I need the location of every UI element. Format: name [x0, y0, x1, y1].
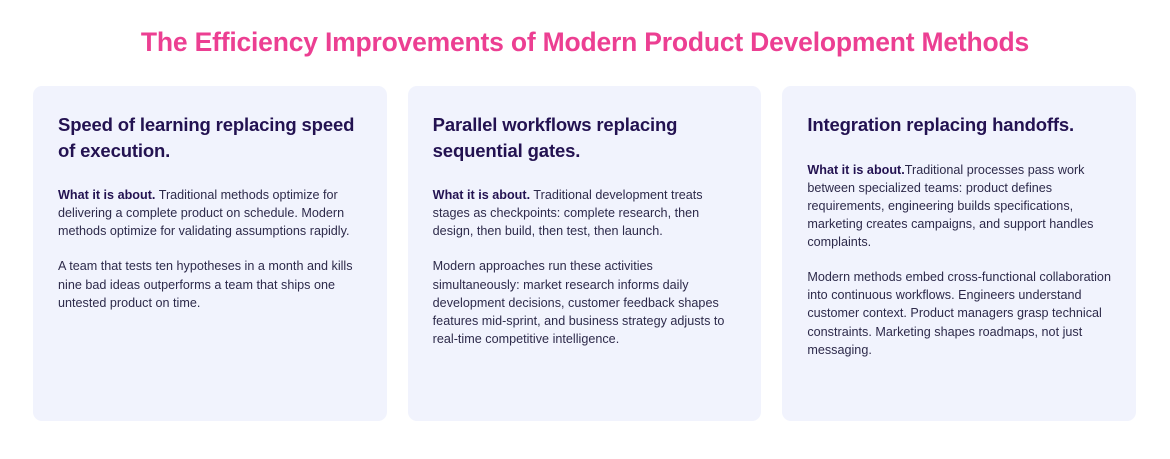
card-paragraph-1: What it is about.Traditional processes p… [807, 161, 1111, 252]
infographic-page: The Efficiency Improvements of Modern Pr… [0, 0, 1170, 459]
card-parallel-workflows: Parallel workflows replacing sequential … [408, 86, 762, 421]
card-heading: Integration replacing handoffs. [807, 112, 1111, 138]
card-integration: Integration replacing handoffs. What it … [782, 86, 1136, 421]
card-paragraph-2: A team that tests ten hypotheses in a mo… [58, 257, 362, 311]
card-heading: Parallel workflows replacing sequential … [433, 112, 737, 163]
lead-label: What it is about. [807, 163, 904, 177]
card-heading: Speed of learning replacing speed of exe… [58, 112, 362, 163]
card-speed-of-learning: Speed of learning replacing speed of exe… [33, 86, 387, 421]
card-paragraph-2: Modern methods embed cross-functional co… [807, 268, 1111, 359]
card-paragraph-2: Modern approaches run these activities s… [433, 257, 737, 348]
card-paragraph-1: What it is about. Traditional methods op… [58, 186, 362, 240]
cards-row: Speed of learning replacing speed of exe… [33, 86, 1136, 421]
lead-label: What it is about. [58, 188, 155, 202]
lead-label: What it is about. [433, 188, 530, 202]
page-title: The Efficiency Improvements of Modern Pr… [0, 27, 1170, 59]
card-paragraph-1: What it is about. Traditional developmen… [433, 186, 737, 240]
